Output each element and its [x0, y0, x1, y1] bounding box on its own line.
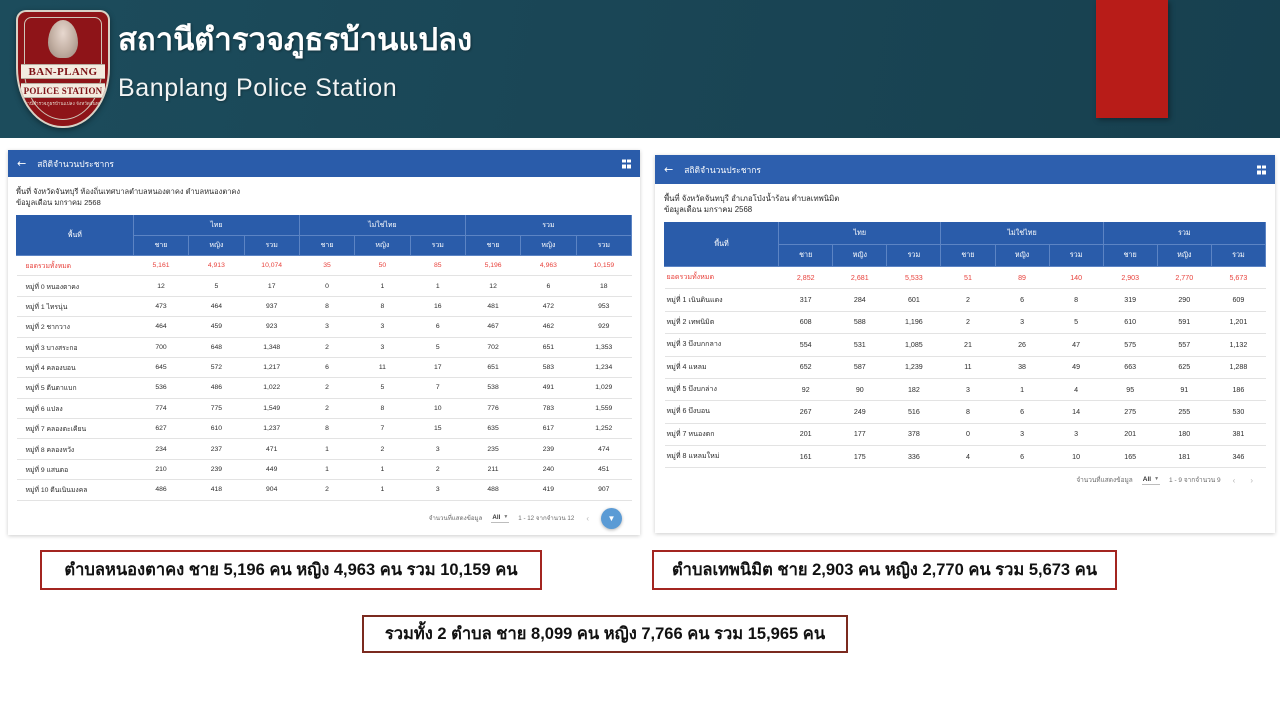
cell-value-1: 531 [833, 334, 887, 356]
col-nonthai-male: ชาย [299, 236, 354, 256]
cell-value-4: 3 [355, 337, 410, 357]
cell-value-2: 449 [244, 459, 299, 479]
table-row[interactable]: หมู่ที่ 7 หนองตก201177378033201180381 [665, 423, 1266, 445]
cell-value-8: 381 [1211, 423, 1265, 445]
cell-value-4: 8 [355, 398, 410, 418]
cell-value-3: 2 [299, 398, 354, 418]
cell-value-3: 35 [299, 256, 354, 276]
table-row[interactable]: ยอดรวมทั้งหมด2,8522,6815,53351891402,903… [665, 267, 1266, 289]
cell-value-5: 47 [1049, 334, 1103, 356]
prev-page-button[interactable]: ‹ [583, 514, 592, 523]
cell-value-5: 3 [1049, 423, 1103, 445]
cell-value-0: 201 [779, 423, 833, 445]
apps-grid-icon[interactable] [622, 159, 631, 168]
cell-value-8: 907 [576, 480, 631, 500]
col-all-male: ชาย [1103, 245, 1157, 267]
cell-value-2: 904 [244, 480, 299, 500]
cell-value-6: 575 [1103, 334, 1157, 356]
cell-area-name: หมู่ที่ 3 บึงบกกลาง [665, 334, 779, 356]
table-row[interactable]: หมู่ที่ 8 แหลมใหม่1611753364610165181346 [665, 446, 1266, 468]
cell-area-name: หมู่ที่ 10 ตีนเนินมงคล [17, 480, 134, 500]
cell-value-0: 317 [779, 289, 833, 311]
cell-value-4: 6 [995, 289, 1049, 311]
cell-value-4: 3 [355, 317, 410, 337]
cell-value-7: 783 [521, 398, 576, 418]
app-title: สถิติจำนวนประชากร [37, 157, 114, 171]
cell-value-1: 239 [189, 459, 244, 479]
col-group-total: รวม [1103, 223, 1265, 245]
cell-value-7: 583 [521, 357, 576, 377]
back-arrow-icon[interactable]: ← [664, 164, 673, 175]
cell-value-8: 1,234 [576, 357, 631, 377]
table-row[interactable]: หมู่ที่ 5 ตีนตาแบก5364861,0222575384911,… [17, 378, 632, 398]
cell-value-3: 4 [941, 446, 995, 468]
cell-value-3: 0 [299, 276, 354, 296]
cell-value-7: 6 [521, 276, 576, 296]
table-pagination: จำนวนที่แสดงข้อมูล All ▼ 1 - 9 จากจำนวน … [664, 468, 1266, 491]
cell-value-0: 464 [133, 317, 188, 337]
col-group-nonthai: ไม่ใช่ไทย [299, 216, 465, 236]
cell-value-7: 617 [521, 419, 576, 439]
cell-area-name: ยอดรวมทั้งหมด [17, 256, 134, 276]
cell-value-1: 588 [833, 311, 887, 333]
cell-value-4: 38 [995, 356, 1049, 378]
cell-value-4: 1 [355, 459, 410, 479]
cell-value-3: 2 [941, 289, 995, 311]
cell-value-2: 336 [887, 446, 941, 468]
table-row[interactable]: หมู่ที่ 9 แสนตอ210239449112211240451 [17, 459, 632, 479]
table-row[interactable]: หมู่ที่ 6 บึงบอน2672495168614275255530 [665, 401, 1266, 423]
area-description: พื้นที่ จังหวัดจันทบุรี ท้องถิ่นเทศบาลตำ… [16, 186, 632, 197]
cell-value-5: 4 [1049, 378, 1103, 400]
cell-value-4: 50 [355, 256, 410, 276]
cell-area-name: หมู่ที่ 3 บางสระกอ [17, 337, 134, 357]
banner-title-thai: สถานีตำรวจภูธรบ้านแปลง [118, 14, 472, 64]
col-thai-female: หญิง [833, 245, 887, 267]
cell-value-0: 5,161 [133, 256, 188, 276]
cell-value-7: 239 [521, 439, 576, 459]
cell-value-6: 235 [465, 439, 520, 459]
cell-value-1: 249 [833, 401, 887, 423]
cell-area-name: หมู่ที่ 9 แสนตอ [17, 459, 134, 479]
cell-area-name: หมู่ที่ 8 คลองหวัง [17, 439, 134, 459]
cell-value-0: 12 [133, 276, 188, 296]
cell-value-4: 7 [355, 419, 410, 439]
data-month: ข้อมูลเดือน มกราคม 2568 [664, 204, 1266, 215]
cell-value-4: 3 [995, 311, 1049, 333]
cell-value-0: 652 [779, 356, 833, 378]
data-month: ข้อมูลเดือน มกราคม 2568 [16, 197, 632, 208]
col-thai-total: รวม [887, 245, 941, 267]
cell-value-6: 2,903 [1103, 267, 1157, 289]
cell-value-2: 1,549 [244, 398, 299, 418]
population-stats-panel-left: ← สถิติจำนวนประชากร พื้นที่ จังหวัดจันทบ… [8, 150, 640, 535]
cell-value-5: 140 [1049, 267, 1103, 289]
cell-value-5: 2 [410, 459, 465, 479]
cell-area-name: หมู่ที่ 2 ชากวาง [17, 317, 134, 337]
cell-value-1: 177 [833, 423, 887, 445]
badge-crest-icon [48, 20, 78, 58]
cell-value-2: 1,237 [244, 419, 299, 439]
cell-value-3: 1 [299, 459, 354, 479]
cell-value-5: 17 [410, 357, 465, 377]
cell-area-name: หมู่ที่ 7 หนองตก [665, 423, 779, 445]
cell-value-7: 591 [1157, 311, 1211, 333]
cell-value-8: 1,288 [1211, 356, 1265, 378]
cell-area-name: หมู่ที่ 5 ตีนตาแบก [17, 378, 134, 398]
col-thai-total: รวม [244, 236, 299, 256]
cell-value-7: 472 [521, 296, 576, 316]
table-row[interactable]: หมู่ที่ 7 คลองตะเคียน6276101,23787156356… [17, 419, 632, 439]
cell-value-1: 587 [833, 356, 887, 378]
rows-per-page-value: All [492, 514, 500, 521]
cell-value-3: 3 [299, 317, 354, 337]
police-badge-logo: BAN-PLANG POLICE STATION สถานีตำรวจภูธรบ… [16, 10, 110, 128]
next-page-button[interactable]: › [1247, 476, 1256, 485]
cell-value-0: 92 [779, 378, 833, 400]
cell-value-7: 181 [1157, 446, 1211, 468]
cell-value-6: 651 [465, 357, 520, 377]
cell-value-1: 4,913 [189, 256, 244, 276]
cell-value-5: 10 [1049, 446, 1103, 468]
cell-value-7: 651 [521, 337, 576, 357]
cell-value-0: 267 [779, 401, 833, 423]
population-table: พื้นที่ ไทย ไม่ใช่ไทย รวม ชาย หญิง รวม ช… [664, 222, 1266, 468]
badge-band-station: POLICE STATION [21, 83, 105, 98]
rows-per-page-value: All [1143, 476, 1151, 483]
table-pagination: จำนวนที่แสดงข้อมูล All ▼ 1 - 12 จากจำนวน… [16, 501, 632, 535]
table-head: พื้นที่ ไทย ไม่ใช่ไทย รวม ชาย หญิง รวม ช… [665, 223, 1266, 267]
cell-value-6: 488 [465, 480, 520, 500]
cell-value-1: 648 [189, 337, 244, 357]
cell-value-8: 451 [576, 459, 631, 479]
cell-value-3: 8 [941, 401, 995, 423]
badge-band-name: BAN-PLANG [21, 64, 105, 79]
col-all-female: หญิง [1157, 245, 1211, 267]
cell-value-4: 1 [995, 378, 1049, 400]
cell-value-6: 776 [465, 398, 520, 418]
caption-grand-total: รวมทั้ง 2 ตำบล ชาย 8,099 คน หญิง 7,766 ค… [362, 615, 848, 653]
cell-value-3: 0 [941, 423, 995, 445]
site-banner: BAN-PLANG POLICE STATION สถานีตำรวจภูธรบ… [0, 0, 1280, 138]
cell-value-2: 182 [887, 378, 941, 400]
cell-value-8: 1,353 [576, 337, 631, 357]
cell-value-2: 10,074 [244, 256, 299, 276]
cell-value-8: 929 [576, 317, 631, 337]
cell-value-8: 474 [576, 439, 631, 459]
pagination-label: จำนวนที่แสดงข้อมูล [1076, 475, 1132, 485]
cell-value-4: 5 [355, 378, 410, 398]
cell-value-1: 572 [189, 357, 244, 377]
app-title: สถิติจำนวนประชากร [684, 163, 761, 177]
cell-value-6: 275 [1103, 401, 1157, 423]
cell-value-6: 165 [1103, 446, 1157, 468]
cell-value-1: 459 [189, 317, 244, 337]
cell-value-2: 1,022 [244, 378, 299, 398]
population-table: พื้นที่ ไทย ไม่ใช่ไทย รวม ชาย หญิง รวม ช… [16, 215, 632, 501]
cell-value-5: 5 [410, 337, 465, 357]
cell-value-7: 4,963 [521, 256, 576, 276]
prev-page-button[interactable]: ‹ [1230, 476, 1239, 485]
cell-value-3: 1 [299, 439, 354, 459]
cell-value-0: 700 [133, 337, 188, 357]
cell-value-0: 774 [133, 398, 188, 418]
cell-value-4: 6 [995, 446, 1049, 468]
table-row[interactable]: หมู่ที่ 3 บางสระกอ7006481,3482357026511,… [17, 337, 632, 357]
col-group-thai: ไทย [779, 223, 941, 245]
pagination-label: จำนวนที่แสดงข้อมูล [429, 513, 483, 523]
table-row[interactable]: หมู่ที่ 4 คลองบอน6455721,217611176515831… [17, 357, 632, 377]
cell-area-name: หมู่ที่ 6 แปลง [17, 398, 134, 418]
cell-value-6: 538 [465, 378, 520, 398]
cell-value-0: 608 [779, 311, 833, 333]
table-row[interactable]: หมู่ที่ 6 แปลง7747751,54928107767831,559 [17, 398, 632, 418]
cell-value-5: 8 [1049, 289, 1103, 311]
cell-value-3: 3 [941, 378, 995, 400]
area-description: พื้นที่ จังหวัดจันทบุรี อำเภอโป่งน้ำร้อน… [664, 193, 1266, 204]
cell-value-1: 464 [189, 296, 244, 316]
cell-value-4: 1 [355, 480, 410, 500]
cell-value-8: 1,201 [1211, 311, 1265, 333]
cell-value-0: 645 [133, 357, 188, 377]
table-row[interactable]: หมู่ที่ 2 เทพนิมิต6085881,1962356105911,… [665, 311, 1266, 333]
pagination-range: 1 - 9 จากจำนวน 9 [1169, 475, 1221, 485]
cell-value-2: 5,533 [887, 267, 941, 289]
col-thai-male: ชาย [779, 245, 833, 267]
cell-area-name: ยอดรวมทั้งหมด [665, 267, 779, 289]
cell-value-7: 491 [521, 378, 576, 398]
col-nonthai-total: รวม [1049, 245, 1103, 267]
cell-area-name: หมู่ที่ 4 แหลม [665, 356, 779, 378]
cell-value-3: 2 [941, 311, 995, 333]
cell-value-4: 11 [355, 357, 410, 377]
cell-area-name: หมู่ที่ 1 เนินดินแดง [665, 289, 779, 311]
cell-value-0: 210 [133, 459, 188, 479]
col-thai-female: หญิง [189, 236, 244, 256]
table-row[interactable]: หมู่ที่ 1 ไทรนุ่น4734649378816481472953 [17, 296, 632, 316]
cell-value-4: 26 [995, 334, 1049, 356]
table-row[interactable]: หมู่ที่ 0 หนองตาคง1251701112618 [17, 276, 632, 296]
table-row[interactable]: หมู่ที่ 3 บึงบกกลาง5545311,0852126475755… [665, 334, 1266, 356]
banner-title-english: Banplang Police Station [118, 74, 397, 103]
cell-value-1: 284 [833, 289, 887, 311]
table-row[interactable]: หมู่ที่ 2 ชากวาง464459923336467462929 [17, 317, 632, 337]
cell-value-8: 18 [576, 276, 631, 296]
cell-value-7: 240 [521, 459, 576, 479]
cell-value-2: 937 [244, 296, 299, 316]
caption-right-subdistrict: ตำบลเทพนิมิต ชาย 2,903 คน หญิง 2,770 คน … [652, 550, 1117, 590]
cell-value-7: 462 [521, 317, 576, 337]
col-all-female: หญิง [521, 236, 576, 256]
cell-value-1: 775 [189, 398, 244, 418]
cell-value-2: 17 [244, 276, 299, 296]
cell-value-4: 89 [995, 267, 1049, 289]
cell-value-0: 161 [779, 446, 833, 468]
cell-value-8: 609 [1211, 289, 1265, 311]
table-group-header-row: พื้นที่ ไทย ไม่ใช่ไทย รวม [17, 216, 632, 236]
cell-value-2: 923 [244, 317, 299, 337]
cell-value-8: 530 [1211, 401, 1265, 423]
cell-value-6: 5,196 [465, 256, 520, 276]
chevron-down-icon: ▼ [503, 514, 508, 520]
cell-value-3: 8 [299, 296, 354, 316]
cell-value-2: 1,085 [887, 334, 941, 356]
cell-value-5: 49 [1049, 356, 1103, 378]
cell-value-1: 5 [189, 276, 244, 296]
cell-value-3: 8 [299, 419, 354, 439]
cell-value-8: 1,029 [576, 378, 631, 398]
cell-value-0: 554 [779, 334, 833, 356]
cell-value-2: 1,217 [244, 357, 299, 377]
cell-value-0: 473 [133, 296, 188, 316]
cell-value-6: 702 [465, 337, 520, 357]
cell-value-6: 663 [1103, 356, 1157, 378]
chevron-down-icon: ▼ [1154, 476, 1159, 482]
table-row[interactable]: หมู่ที่ 1 เนินดินแดง31728460126831929060… [665, 289, 1266, 311]
col-all-total: รวม [1211, 245, 1265, 267]
cell-value-1: 610 [189, 419, 244, 439]
badge-shield-shape: BAN-PLANG POLICE STATION สถานีตำรวจภูธรบ… [16, 10, 110, 128]
table-row[interactable]: หมู่ที่ 5 บึงบกล่าง92901823149591186 [665, 378, 1266, 400]
cell-value-1: 486 [189, 378, 244, 398]
col-all-male: ชาย [465, 236, 520, 256]
cell-value-2: 601 [887, 289, 941, 311]
cell-value-1: 90 [833, 378, 887, 400]
col-group-thai: ไทย [133, 216, 299, 236]
table-row[interactable]: หมู่ที่ 8 คลองหวัง234237471123235239474 [17, 439, 632, 459]
cell-value-7: 290 [1157, 289, 1211, 311]
cell-value-8: 1,559 [576, 398, 631, 418]
cell-value-8: 1,132 [1211, 334, 1265, 356]
cell-value-6: 211 [465, 459, 520, 479]
cell-value-6: 610 [1103, 311, 1157, 333]
cell-value-5: 10 [410, 398, 465, 418]
col-group-total: รวม [465, 216, 631, 236]
scroll-down-fab[interactable]: ▼ [601, 508, 622, 529]
cell-value-2: 516 [887, 401, 941, 423]
cell-value-6: 481 [465, 296, 520, 316]
cell-value-6: 635 [465, 419, 520, 439]
cell-value-8: 953 [576, 296, 631, 316]
col-area: พื้นที่ [17, 216, 134, 256]
pagination-range: 1 - 12 จากจำนวน 12 [518, 513, 574, 523]
cell-value-5: 7 [410, 378, 465, 398]
col-nonthai-female: หญิง [995, 245, 1049, 267]
caption-left-subdistrict: ตำบลหนองตาคง ชาย 5,196 คน หญิง 4,963 คน … [40, 550, 542, 590]
rows-per-page-select[interactable]: All ▼ [1142, 476, 1160, 485]
cell-area-name: หมู่ที่ 8 แหลมใหม่ [665, 446, 779, 468]
cell-value-1: 2,681 [833, 267, 887, 289]
cell-value-7: 255 [1157, 401, 1211, 423]
panel-body: พื้นที่ จังหวัดจันทบุรี อำเภอโป่งน้ำร้อน… [655, 184, 1275, 491]
apps-grid-icon[interactable] [1257, 165, 1266, 174]
cell-value-1: 175 [833, 446, 887, 468]
table-head: พื้นที่ ไทย ไม่ใช่ไทย รวม ชาย หญิง รวม ช… [17, 216, 632, 256]
cell-value-6: 201 [1103, 423, 1157, 445]
table-row[interactable]: หมู่ที่ 4 แหลม6525871,2391138496636251,2… [665, 356, 1266, 378]
cell-area-name: หมู่ที่ 4 คลองบอน [17, 357, 134, 377]
cell-value-2: 1,348 [244, 337, 299, 357]
cell-value-6: 467 [465, 317, 520, 337]
col-nonthai-female: หญิง [355, 236, 410, 256]
badge-subtext: สถานีตำรวจภูธรบ้านแปลง จังหวัดจันทบุรี [18, 100, 108, 107]
cell-area-name: หมู่ที่ 2 เทพนิมิต [665, 311, 779, 333]
cell-value-5: 16 [410, 296, 465, 316]
cell-value-7: 557 [1157, 334, 1211, 356]
cell-area-name: หมู่ที่ 0 หนองตาคง [17, 276, 134, 296]
cell-area-name: หมู่ที่ 5 บึงบกล่าง [665, 378, 779, 400]
cell-value-3: 11 [941, 356, 995, 378]
col-nonthai-total: รวม [410, 236, 465, 256]
col-group-nonthai: ไม่ใช่ไทย [941, 223, 1103, 245]
cell-value-4: 3 [995, 423, 1049, 445]
app-header-bar: ← สถิติจำนวนประชากร [655, 155, 1275, 184]
table-row[interactable]: หมู่ที่ 10 ตีนเนินมงคล486418904213488419… [17, 480, 632, 500]
table-body: ยอดรวมทั้งหมด2,8522,6815,53351891402,903… [665, 267, 1266, 468]
rows-per-page-select[interactable]: All ▼ [491, 514, 509, 523]
cell-value-3: 2 [299, 378, 354, 398]
cell-value-5: 85 [410, 256, 465, 276]
cell-value-8: 5,673 [1211, 267, 1265, 289]
cell-value-5: 3 [410, 480, 465, 500]
cell-area-name: หมู่ที่ 7 คลองตะเคียน [17, 419, 134, 439]
col-area: พื้นที่ [665, 223, 779, 267]
cell-value-8: 346 [1211, 446, 1265, 468]
cell-value-2: 1,196 [887, 311, 941, 333]
cell-value-8: 1,252 [576, 419, 631, 439]
cell-value-6: 12 [465, 276, 520, 296]
cell-value-3: 2 [299, 480, 354, 500]
cell-value-5: 1 [410, 276, 465, 296]
cell-value-0: 536 [133, 378, 188, 398]
back-arrow-icon[interactable]: ← [17, 158, 26, 169]
cell-value-2: 378 [887, 423, 941, 445]
col-thai-male: ชาย [133, 236, 188, 256]
col-all-total: รวม [576, 236, 631, 256]
cell-value-7: 625 [1157, 356, 1211, 378]
cell-value-0: 2,852 [779, 267, 833, 289]
table-group-header-row: พื้นที่ ไทย ไม่ใช่ไทย รวม [665, 223, 1266, 245]
cell-value-4: 8 [355, 296, 410, 316]
cell-value-3: 51 [941, 267, 995, 289]
cell-value-3: 2 [299, 337, 354, 357]
cell-value-0: 627 [133, 419, 188, 439]
app-header-bar: ← สถิติจำนวนประชากร [8, 150, 640, 177]
cell-value-4: 2 [355, 439, 410, 459]
cell-value-6: 95 [1103, 378, 1157, 400]
cell-value-5: 6 [410, 317, 465, 337]
cell-value-8: 186 [1211, 378, 1265, 400]
cell-value-1: 418 [189, 480, 244, 500]
cell-area-name: หมู่ที่ 1 ไทรนุ่น [17, 296, 134, 316]
cell-value-5: 15 [410, 419, 465, 439]
cell-value-8: 10,159 [576, 256, 631, 276]
banner-red-accent [1096, 0, 1168, 118]
cell-value-7: 180 [1157, 423, 1211, 445]
cell-value-7: 419 [521, 480, 576, 500]
table-row[interactable]: ยอดรวมทั้งหมด5,1614,91310,0743550855,196… [17, 256, 632, 276]
cell-value-0: 486 [133, 480, 188, 500]
cell-value-4: 1 [355, 276, 410, 296]
cell-value-7: 91 [1157, 378, 1211, 400]
cell-value-2: 1,239 [887, 356, 941, 378]
cell-value-2: 471 [244, 439, 299, 459]
cell-value-1: 237 [189, 439, 244, 459]
population-stats-panel-right: ← สถิติจำนวนประชากร พื้นที่ จังหวัดจันทบ… [655, 155, 1275, 533]
cell-value-3: 6 [299, 357, 354, 377]
screenshot-root: BAN-PLANG POLICE STATION สถานีตำรวจภูธรบ… [0, 0, 1280, 720]
col-nonthai-male: ชาย [941, 245, 995, 267]
